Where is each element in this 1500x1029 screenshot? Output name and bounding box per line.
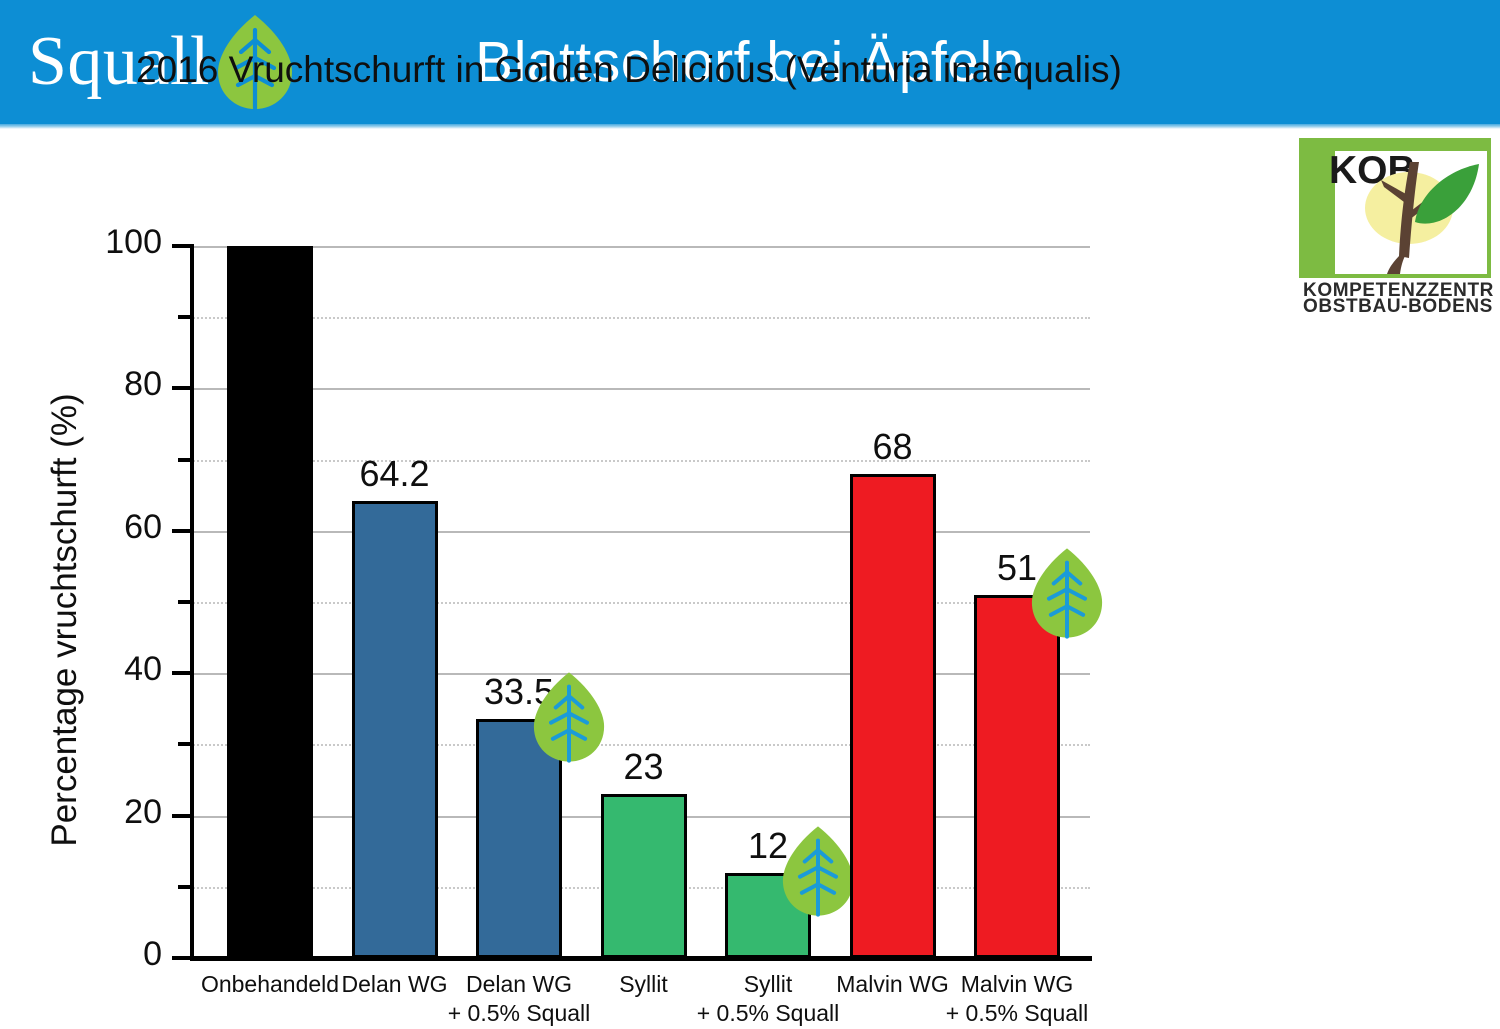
bar xyxy=(227,246,313,958)
y-tick-major xyxy=(172,244,194,248)
y-tick-major xyxy=(172,529,194,533)
gridline-major xyxy=(190,531,1090,533)
gridline-major xyxy=(190,673,1090,675)
y-tick-label: 0 xyxy=(76,935,162,974)
svg-text:OBSTBAU-BODENSEE: OBSTBAU-BODENSEE xyxy=(1303,296,1493,314)
header-underline-rule xyxy=(0,124,1500,129)
gridline-major xyxy=(190,388,1090,390)
squall-leaf-marker xyxy=(1030,547,1104,639)
bar-value-label: 68 xyxy=(808,426,978,468)
kob-logo: KOB KOMPETENZZENTRUM OBSTBAU-BODENSEE xyxy=(1297,136,1493,314)
x-axis-category-line: Malvin WG xyxy=(932,970,1102,999)
y-tick-label: 80 xyxy=(76,365,162,404)
bar-value-label: 64.2 xyxy=(310,453,480,495)
y-tick-label: 40 xyxy=(76,650,162,689)
gridline-minor xyxy=(190,602,1090,604)
y-tick-minor xyxy=(178,885,194,889)
y-tick-minor xyxy=(178,458,194,462)
y-axis-label: Percentage vruchtschurft (%) xyxy=(45,300,85,940)
leaf-icon xyxy=(781,825,855,917)
leaf-icon xyxy=(1030,547,1104,639)
y-tick-label: 100 xyxy=(76,223,162,262)
y-tick-major xyxy=(172,386,194,390)
bar-value-label: 23 xyxy=(559,746,729,788)
gridline-major xyxy=(190,246,1090,248)
bar xyxy=(352,501,438,958)
y-tick-major xyxy=(172,671,194,675)
x-axis-category-line: + 0.5% Squall xyxy=(932,999,1102,1028)
x-axis-category-line: + 0.5% Squall xyxy=(683,999,853,1028)
bar xyxy=(601,794,687,958)
y-tick-major xyxy=(172,814,194,818)
bar xyxy=(974,595,1060,958)
y-tick-minor xyxy=(178,742,194,746)
y-tick-major xyxy=(172,956,194,960)
y-tick-minor xyxy=(178,315,194,319)
bar xyxy=(850,474,936,958)
x-axis-category-line: + 0.5% Squall xyxy=(434,999,604,1028)
squall-leaf-marker xyxy=(781,825,855,917)
x-axis-category-label: Malvin WG+ 0.5% Squall xyxy=(932,970,1102,1029)
y-tick-minor xyxy=(178,600,194,604)
y-tick-label: 20 xyxy=(76,793,162,832)
y-tick-label: 60 xyxy=(76,508,162,547)
gridline-minor xyxy=(190,317,1090,319)
chart-title: 2016 Vruchtschurft in Golden Delicious (… xyxy=(136,49,1122,91)
